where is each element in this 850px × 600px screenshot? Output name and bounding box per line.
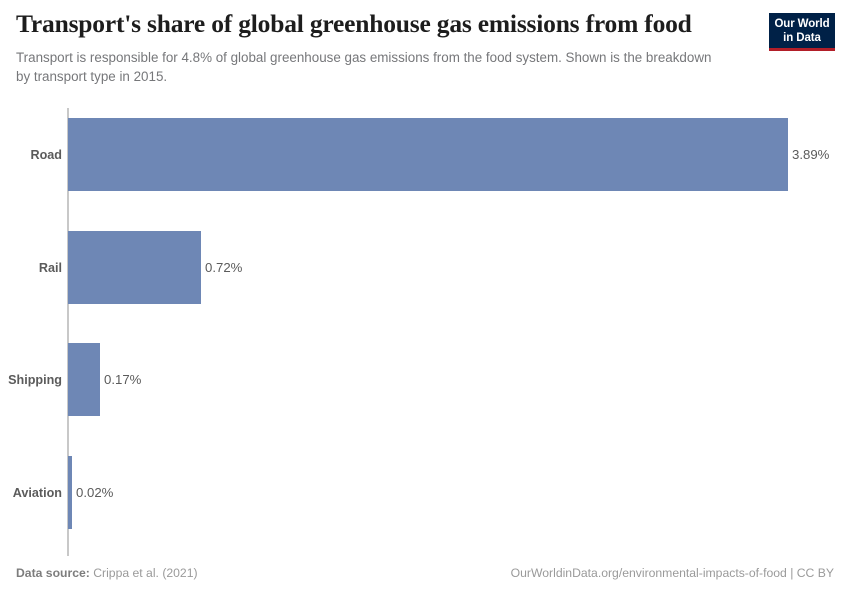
bar-value-rail: 0.72% <box>205 231 242 304</box>
bar-value-road: 3.89% <box>792 118 829 191</box>
bar-row: Rail 0.72% <box>0 231 850 304</box>
bar-value-shipping: 0.17% <box>104 343 141 416</box>
bar-shipping[interactable] <box>68 343 100 416</box>
our-world-in-data-logo[interactable]: Our World in Data <box>769 13 835 51</box>
data-source-label: Data source: <box>16 566 90 580</box>
bar-chart-plot-area: Road 3.89% Rail 0.72% Shipping 0.17% Avi… <box>0 104 850 554</box>
bar-value-aviation: 0.02% <box>76 456 113 529</box>
page-title: Transport's share of global greenhouse g… <box>16 10 756 39</box>
chart-footer: Data source: Crippa et al. (2021) OurWor… <box>0 566 850 590</box>
logo-accent-rule <box>769 48 835 51</box>
category-label-rail: Rail <box>0 231 62 304</box>
bar-row: Aviation 0.02% <box>0 456 850 529</box>
category-label-aviation: Aviation <box>0 456 62 529</box>
bar-road[interactable] <box>68 118 788 191</box>
bar-rail[interactable] <box>68 231 201 304</box>
bar-aviation[interactable] <box>68 456 72 529</box>
source-link[interactable]: OurWorldinData.org/environmental-impacts… <box>511 566 834 580</box>
bar-row: Shipping 0.17% <box>0 343 850 416</box>
logo-line-1: Our World <box>774 18 829 32</box>
chart-subtitle: Transport is responsible for 4.8% of glo… <box>16 48 716 86</box>
bar-row: Road 3.89% <box>0 118 850 191</box>
logo-line-2: in Data <box>783 32 821 46</box>
category-label-shipping: Shipping <box>0 343 62 416</box>
data-source-value: Crippa et al. (2021) <box>93 566 197 580</box>
data-source: Data source: Crippa et al. (2021) <box>16 566 198 580</box>
chart-page: Transport's share of global greenhouse g… <box>0 0 850 600</box>
category-label-road: Road <box>0 118 62 191</box>
